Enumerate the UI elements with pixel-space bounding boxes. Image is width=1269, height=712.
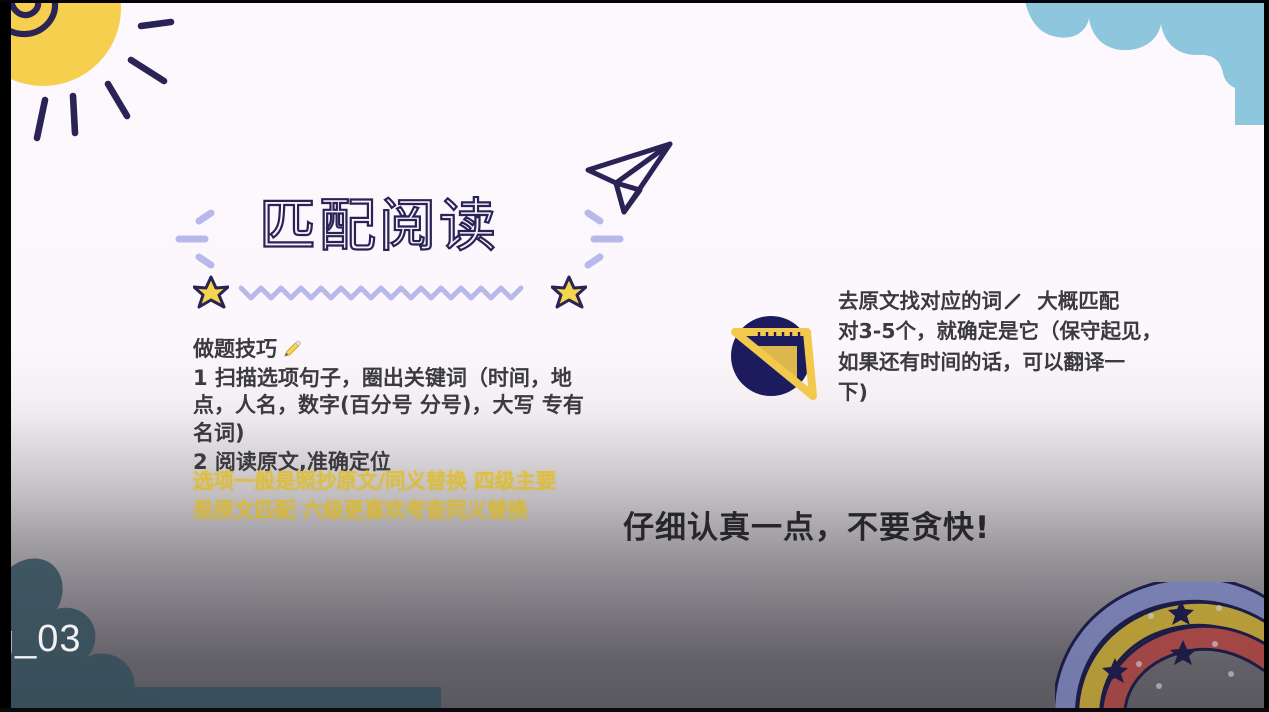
screenshot-frame: 匹配阅读 做题技巧 1 扫描选项句子，圈出关键词（时间，地点，人名，数字(百分号…	[0, 0, 1269, 712]
tips-heading-row: 做题技巧	[193, 336, 588, 364]
footer-line: 仔细认真一点，不要贪快!	[623, 502, 990, 547]
tips-heading: 做题技巧	[193, 336, 277, 364]
right-letterbox-bar	[1264, 0, 1269, 712]
bottom-trim-line	[0, 708, 1269, 712]
pencil-emoji-icon	[282, 340, 302, 360]
right-note-text: 去原文找对应的词	[838, 289, 1002, 313]
tips-block: 做题技巧 1 扫描选项句子，圈出关键词（时间，地点，人名，数字(百分号 分号)，…	[193, 336, 588, 478]
highlight-line: 是原文匹配 六级更喜欢考查同义替换	[193, 496, 593, 525]
right-note-line: 去原文找对应的词 大概匹配	[838, 286, 1216, 316]
tips-line: 1 扫描选项句子，圈出关键词（时间，地点，人名，数字(百分号 分号)，大写 专有…	[193, 365, 588, 448]
right-note-line: 下)	[838, 377, 1216, 407]
page-title: 匹配阅读	[259, 196, 499, 258]
pen-glyph-icon	[1004, 293, 1021, 310]
watermark: g_03	[11, 618, 82, 661]
slide-canvas: 匹配阅读 做题技巧 1 扫描选项句子，圈出关键词（时间，地点，人名，数字(百分号…	[11, 0, 1265, 712]
highlight-line: 选项一般是照抄原文/同义替换 四级主要	[193, 467, 593, 496]
right-note-text: 大概匹配	[1023, 289, 1119, 313]
top-trim-line	[0, 0, 1269, 3]
left-letterbox-bar	[0, 0, 11, 712]
right-note-line: 对3-5个，就确定是它（保守起见，	[838, 316, 1216, 346]
right-note-block: 去原文找对应的词 大概匹配 对3-5个，就确定是它（保守起见， 如果还有时间的话…	[838, 286, 1216, 407]
right-note-line: 如果还有时间的话，可以翻译一	[838, 347, 1216, 377]
highlight-block: 选项一般是照抄原文/同义替换 四级主要 是原文匹配 六级更喜欢考查同义替换	[193, 467, 593, 525]
